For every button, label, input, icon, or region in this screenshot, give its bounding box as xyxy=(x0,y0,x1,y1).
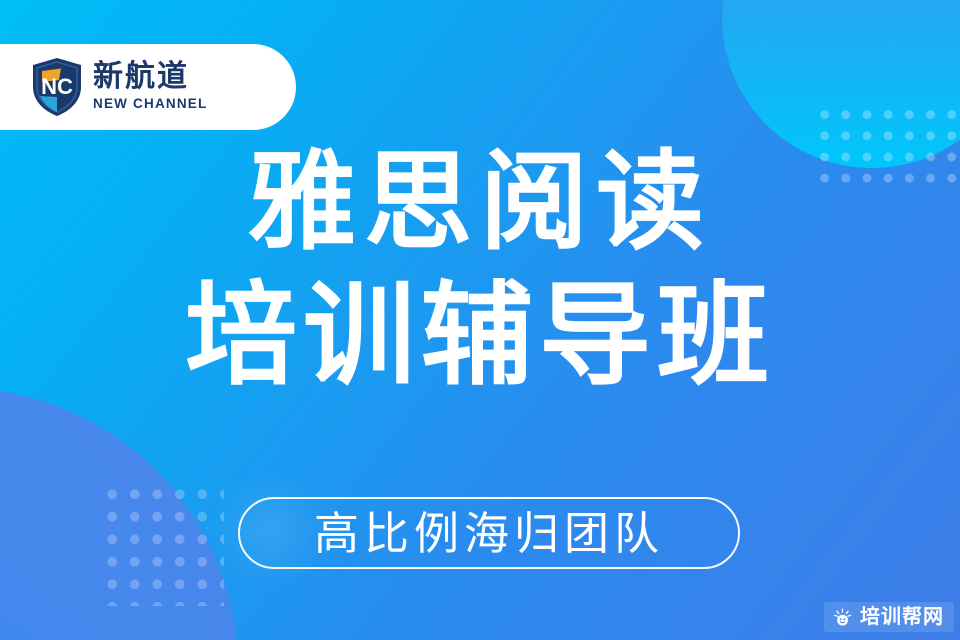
subtitle-text: 高比例海归团队 xyxy=(314,511,664,556)
subtitle-badge: 高比例海归团队 xyxy=(238,497,740,569)
headline-block: 雅思阅读 培训辅导班 xyxy=(0,146,960,395)
brand-logo: NC 新航道 NEW CHANNEL xyxy=(0,44,296,130)
brand-name-en: NEW CHANNEL xyxy=(93,96,207,112)
watermark: 培训帮网 xyxy=(824,602,954,632)
dot-grid-bottom-left xyxy=(96,478,224,606)
shield-icon: NC xyxy=(30,57,84,117)
cyan-circle-decoration xyxy=(722,0,960,168)
brand-name-cn: 新航道 xyxy=(93,62,207,93)
headline-line-2: 培训辅导班 xyxy=(0,278,960,394)
blue-circle-decoration xyxy=(0,388,238,640)
watermark-text: 培训帮网 xyxy=(860,607,944,627)
poster-canvas: NC 新航道 NEW CHANNEL 雅思阅读 培训辅导班 高比例海归团队 xyxy=(0,0,960,640)
svg-text:NC: NC xyxy=(41,74,73,99)
brand-wordmark: 新航道 NEW CHANNEL xyxy=(93,62,207,112)
headline-line-1: 雅思阅读 xyxy=(0,146,960,258)
sun-face-icon xyxy=(832,607,853,628)
